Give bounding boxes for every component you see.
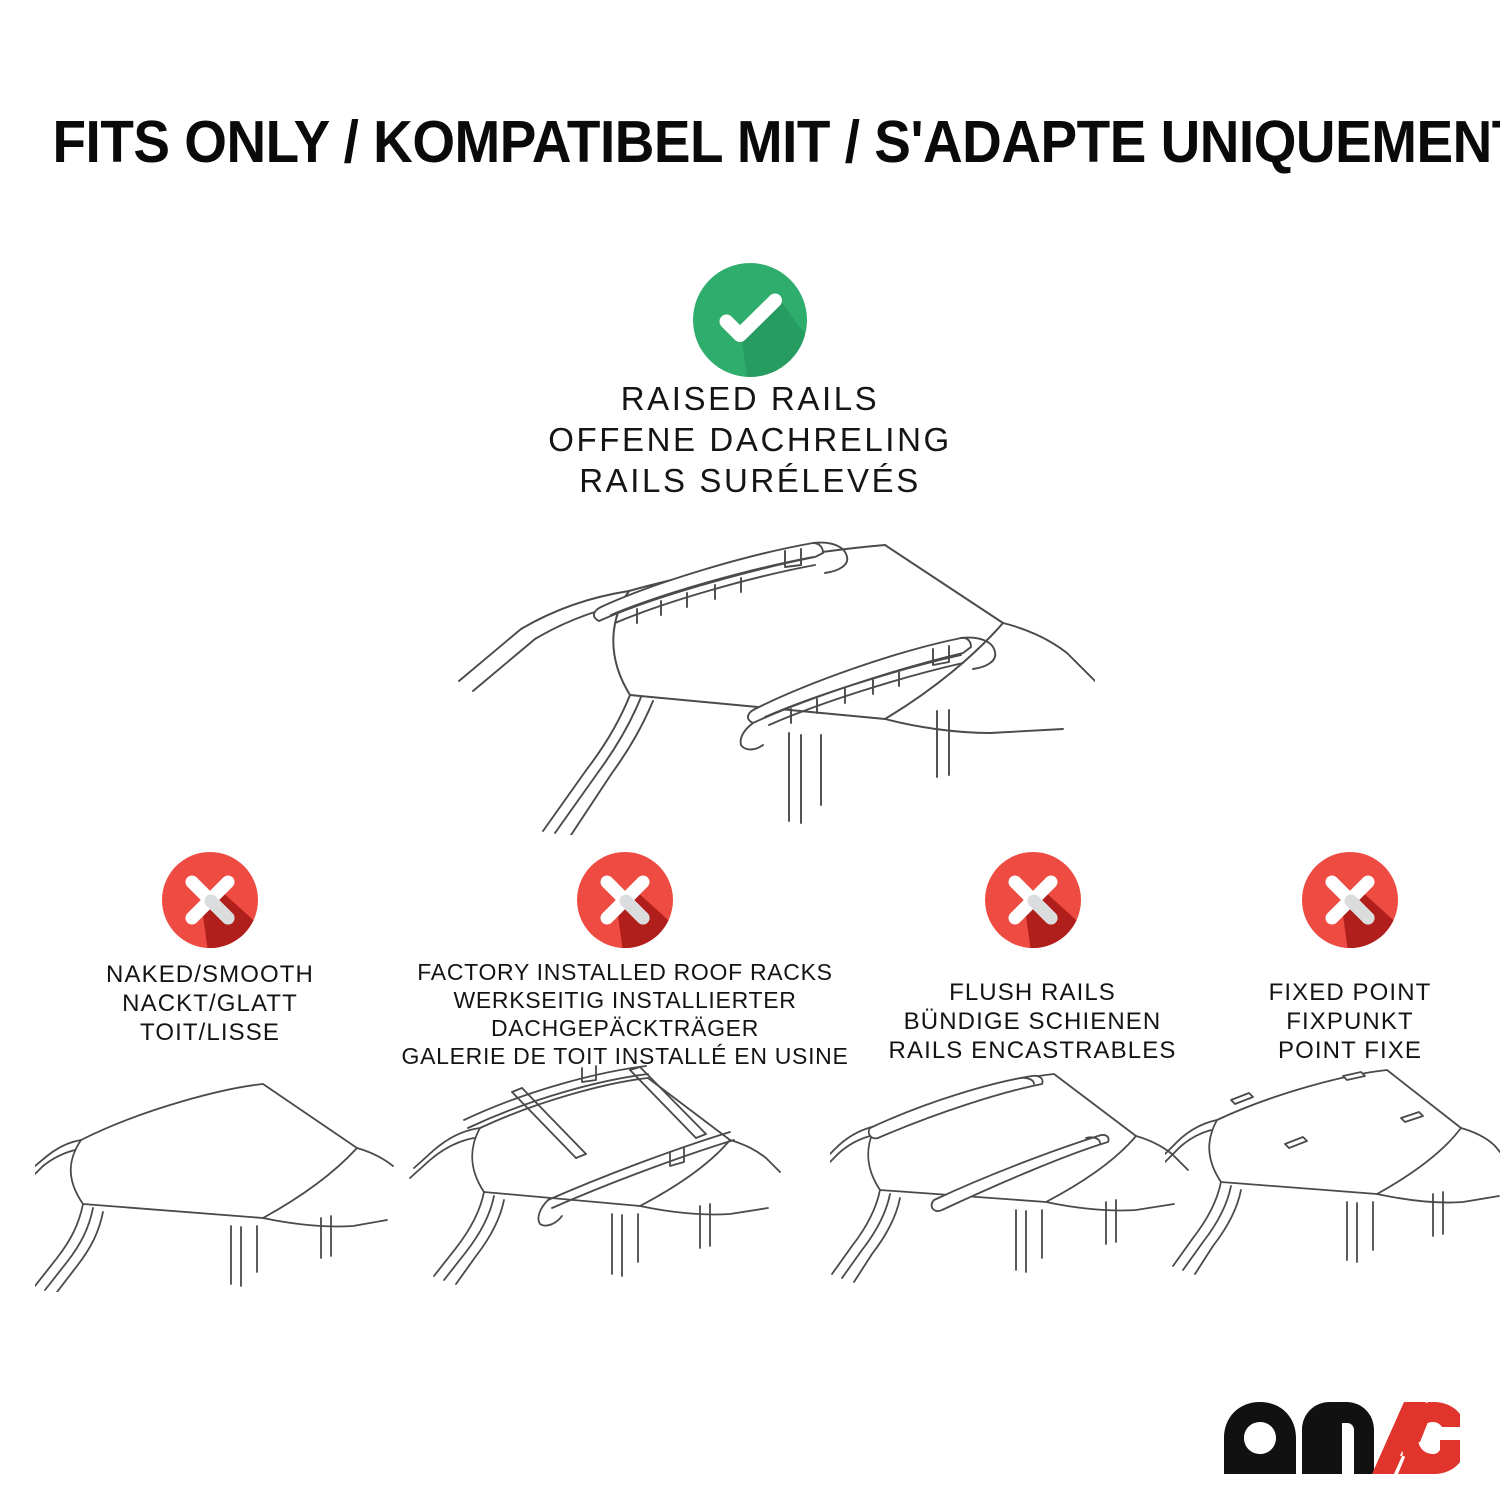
- logo-letter-o: [1224, 1402, 1296, 1474]
- check-circle-icon: [688, 258, 812, 382]
- flush-rails-roof-illustration: [830, 1062, 1215, 1292]
- fixed-point-roof-illustration: [1165, 1062, 1500, 1292]
- x-circle-icon: [1298, 848, 1402, 952]
- incompatible-label-naked-smooth: NAKED/SMOOTH NACKT/GLATT TOIT/LISSE: [30, 960, 390, 1047]
- incompatible-item-flush-rails: FLUSH RAILS BÜNDIGE SCHIENEN RAILS ENCAS…: [855, 848, 1210, 1065]
- hero-label: RAISED RAILS OFFENE DACHRELING RAILS SUR…: [0, 378, 1500, 501]
- infographic-page: FITS ONLY / KOMPATIBEL MIT / S'ADAPTE UN…: [0, 0, 1500, 1500]
- naked-smooth-roof-illustration: [35, 1062, 415, 1292]
- incompatible-label-flush-rails: FLUSH RAILS BÜNDIGE SCHIENEN RAILS ENCAS…: [855, 978, 1210, 1065]
- x-circle-icon: [573, 848, 677, 952]
- x-circle-icon: [158, 848, 262, 952]
- incompatible-label-fixed-point: FIXED POINT FIXPUNKT POINT FIXE: [1205, 978, 1495, 1065]
- x-circle-icon: [981, 848, 1085, 952]
- page-title: FITS ONLY / KOMPATIBEL MIT / S'ADAPTE UN…: [53, 108, 1448, 176]
- incompatible-item-fixed-point: FIXED POINT FIXPUNKT POINT FIXE: [1205, 848, 1495, 1065]
- factory-roof-rack-illustration: [400, 1062, 785, 1292]
- raised-rails-roof-illustration: [415, 505, 1095, 835]
- logo-letter-m: [1302, 1402, 1374, 1474]
- incompatible-item-factory-rack: FACTORY INSTALLED ROOF RACKS WERKSEITIG …: [395, 848, 855, 1070]
- incompatible-label-factory-rack: FACTORY INSTALLED ROOF RACKS WERKSEITIG …: [395, 958, 855, 1070]
- incompatible-item-naked-smooth: NAKED/SMOOTH NACKT/GLATT TOIT/LISSE: [30, 848, 390, 1047]
- omac-logo: [1222, 1400, 1462, 1476]
